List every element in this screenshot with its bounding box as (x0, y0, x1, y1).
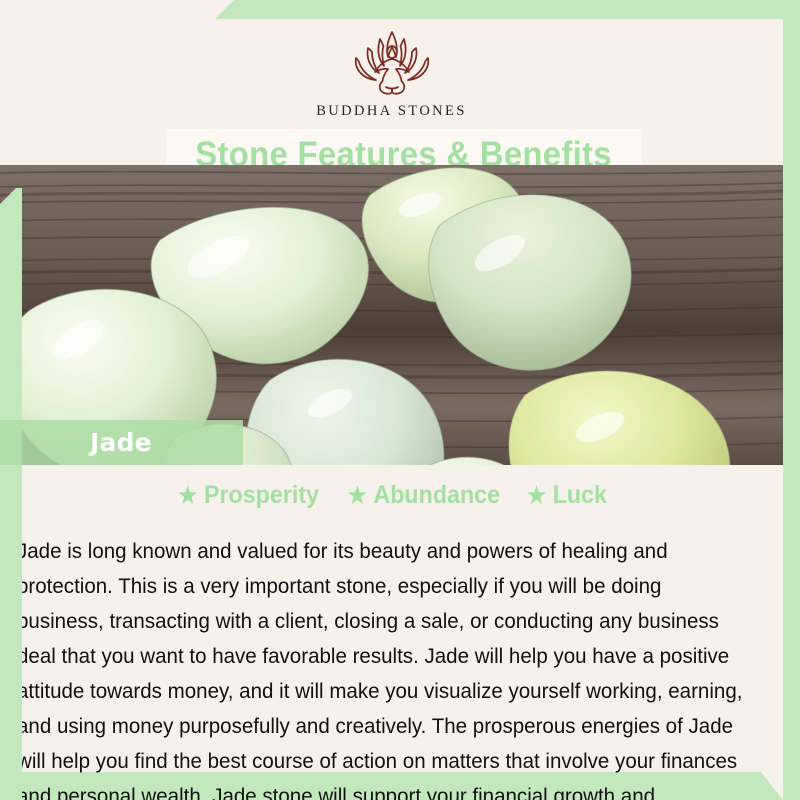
infographic-card: BUDDHA STONES Stone Features & Benefits (0, 0, 800, 800)
decorative-top-bar (215, 0, 800, 19)
benefit-label: Prosperity (204, 481, 319, 510)
brand-name: BUDDHA STONES (316, 103, 467, 120)
stone-name-band: Jade (0, 420, 243, 465)
decorative-right-bar (783, 0, 800, 800)
benefits-row: ★ Prosperity ★ Abundance ★ Luck (0, 478, 783, 512)
brand-logo: BUDDHA STONES (0, 27, 783, 120)
star-icon: ★ (178, 484, 197, 507)
stone-description: Jade is long known and valued for its be… (17, 534, 745, 800)
decorative-left-bar (0, 188, 22, 800)
lotus-meditation-icon (336, 27, 448, 99)
benefit-item: ★ Luck (527, 481, 607, 510)
star-icon: ★ (348, 484, 367, 507)
header: BUDDHA STONES Stone Features & Benefits (0, 19, 783, 165)
benefit-item: ★ Abundance (348, 481, 500, 510)
benefit-label: Abundance (374, 481, 501, 510)
benefit-label: Luck (553, 481, 607, 510)
benefit-item: ★ Prosperity (178, 481, 319, 510)
star-icon: ★ (527, 484, 546, 507)
stone-name: Jade (90, 428, 152, 457)
